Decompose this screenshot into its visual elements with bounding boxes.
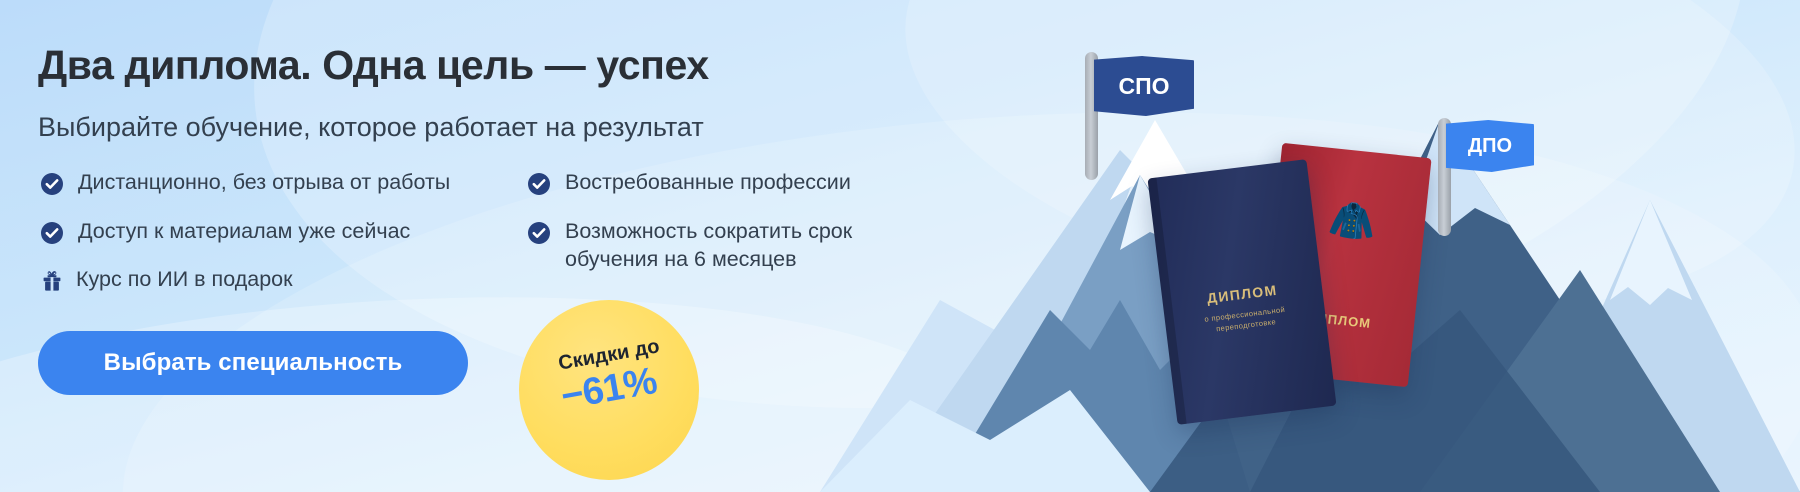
benefits-column-left: Дистанционно, без отрыва от работы Досту… [40, 168, 530, 314]
benefit-item: Возможность сократить срок обучения на 6… [527, 217, 947, 274]
headline: Два диплома. Одна цель — успех [38, 42, 709, 89]
banner-content: Два диплома. Одна цель — успех Выбирайте… [38, 0, 968, 492]
check-circle-icon [40, 172, 64, 196]
benefit-item: Доступ к материалам уже сейчас [40, 217, 530, 246]
benefit-label: Курс по ИИ в подарок [76, 265, 293, 294]
diploma-navy: ДИПЛОМ о профессиональной переподготовке [1147, 159, 1336, 425]
benefit-item: Дистанционно, без отрыва от работы [40, 168, 530, 197]
benefit-item: Востребованные профессии [527, 168, 947, 197]
promo-banner: СПО ДПО 🧥 ДИПЛОМ ДИПЛОМ о профессиональн… [0, 0, 1800, 492]
gift-icon [40, 269, 64, 293]
benefit-label: Доступ к материалам уже сейчас [78, 217, 410, 246]
benefits-column-right: Востребованные профессии Возможность сок… [527, 168, 947, 294]
subtitle: Выбирайте обучение, которое работает на … [38, 112, 704, 143]
flag-dpo-label: ДПО [1446, 120, 1534, 172]
flag-dpo: ДПО [1432, 108, 1552, 238]
emblem-icon: 🧥 [1325, 200, 1372, 254]
flag-spo: СПО [1078, 40, 1208, 180]
benefit-label: Возможность сократить срок обучения на 6… [565, 217, 895, 274]
check-circle-icon [40, 221, 64, 245]
benefit-label: Востребованные профессии [565, 168, 851, 197]
benefit-item-gift: Курс по ИИ в подарок [40, 265, 530, 294]
diploma-group: 🧥 ДИПЛОМ ДИПЛОМ о профессиональной переп… [1140, 140, 1470, 492]
check-circle-icon [527, 221, 551, 245]
choose-specialty-button[interactable]: Выбрать специальность [38, 331, 468, 395]
check-circle-icon [527, 172, 551, 196]
benefit-label: Дистанционно, без отрыва от работы [78, 168, 450, 197]
flag-spo-label: СПО [1094, 56, 1194, 116]
discount-badge: Скидки до −61% [519, 300, 699, 480]
